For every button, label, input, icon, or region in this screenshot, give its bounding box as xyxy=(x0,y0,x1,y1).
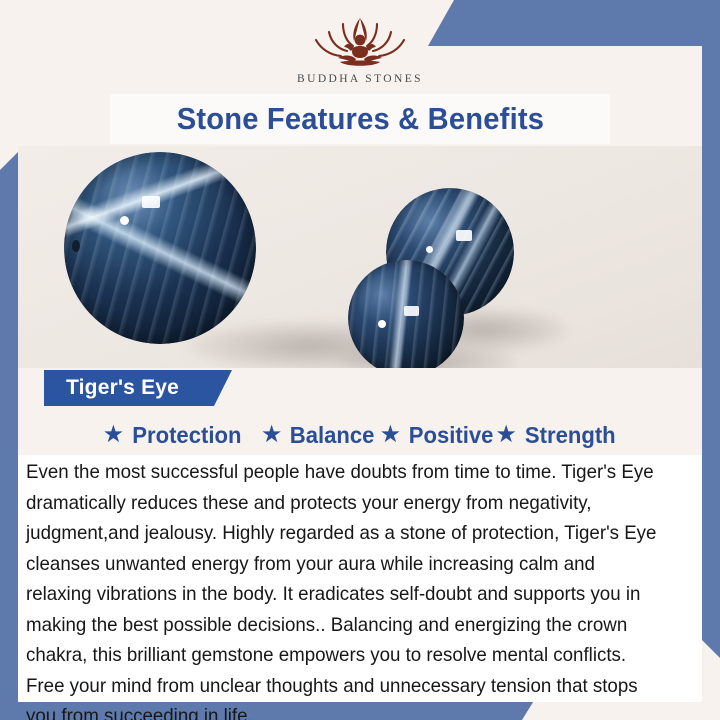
title-banner: Stone Features & Benefits xyxy=(110,94,610,144)
benefit-label: Balance xyxy=(290,422,375,449)
description-panel: Even the most successful people have dou… xyxy=(18,455,702,702)
benefit-item-balance: ★ Balance xyxy=(261,422,377,449)
gemstone-sphere-large xyxy=(64,152,256,344)
page-title: Stone Features & Benefits xyxy=(176,101,543,137)
benefit-label: Protection xyxy=(132,422,241,449)
stone-name-tab: Tiger's Eye xyxy=(44,370,232,406)
brand-logo: BUDDHA STONES xyxy=(0,14,720,90)
left-edge-accent xyxy=(0,152,18,694)
gemstone-photo xyxy=(18,146,702,368)
star-icon: ★ xyxy=(495,423,517,447)
brand-name: BUDDHA STONES xyxy=(297,73,423,85)
benefit-item-strength: ★ Strength xyxy=(495,422,617,449)
gemstone-sphere-small xyxy=(348,260,464,368)
benefit-item-positive: ★ Positive xyxy=(380,422,496,449)
benefits-row: ★ Protection ★ Balance ★ Positive ★ Stre… xyxy=(18,418,702,452)
stone-name-label: Tiger's Eye xyxy=(44,376,179,400)
benefit-label: Positive xyxy=(409,422,494,449)
lotus-meditation-icon xyxy=(296,14,424,72)
right-edge-accent xyxy=(702,46,720,658)
benefit-label: Strength xyxy=(525,422,616,449)
infographic-card: BUDDHA STONES Stone Features & Benefits xyxy=(0,0,720,720)
star-icon: ★ xyxy=(261,423,283,447)
description-text: Even the most successful people have dou… xyxy=(26,457,661,720)
benefit-item-protection: ★ Protection xyxy=(103,422,244,449)
star-icon: ★ xyxy=(103,423,125,447)
star-icon: ★ xyxy=(380,423,402,447)
